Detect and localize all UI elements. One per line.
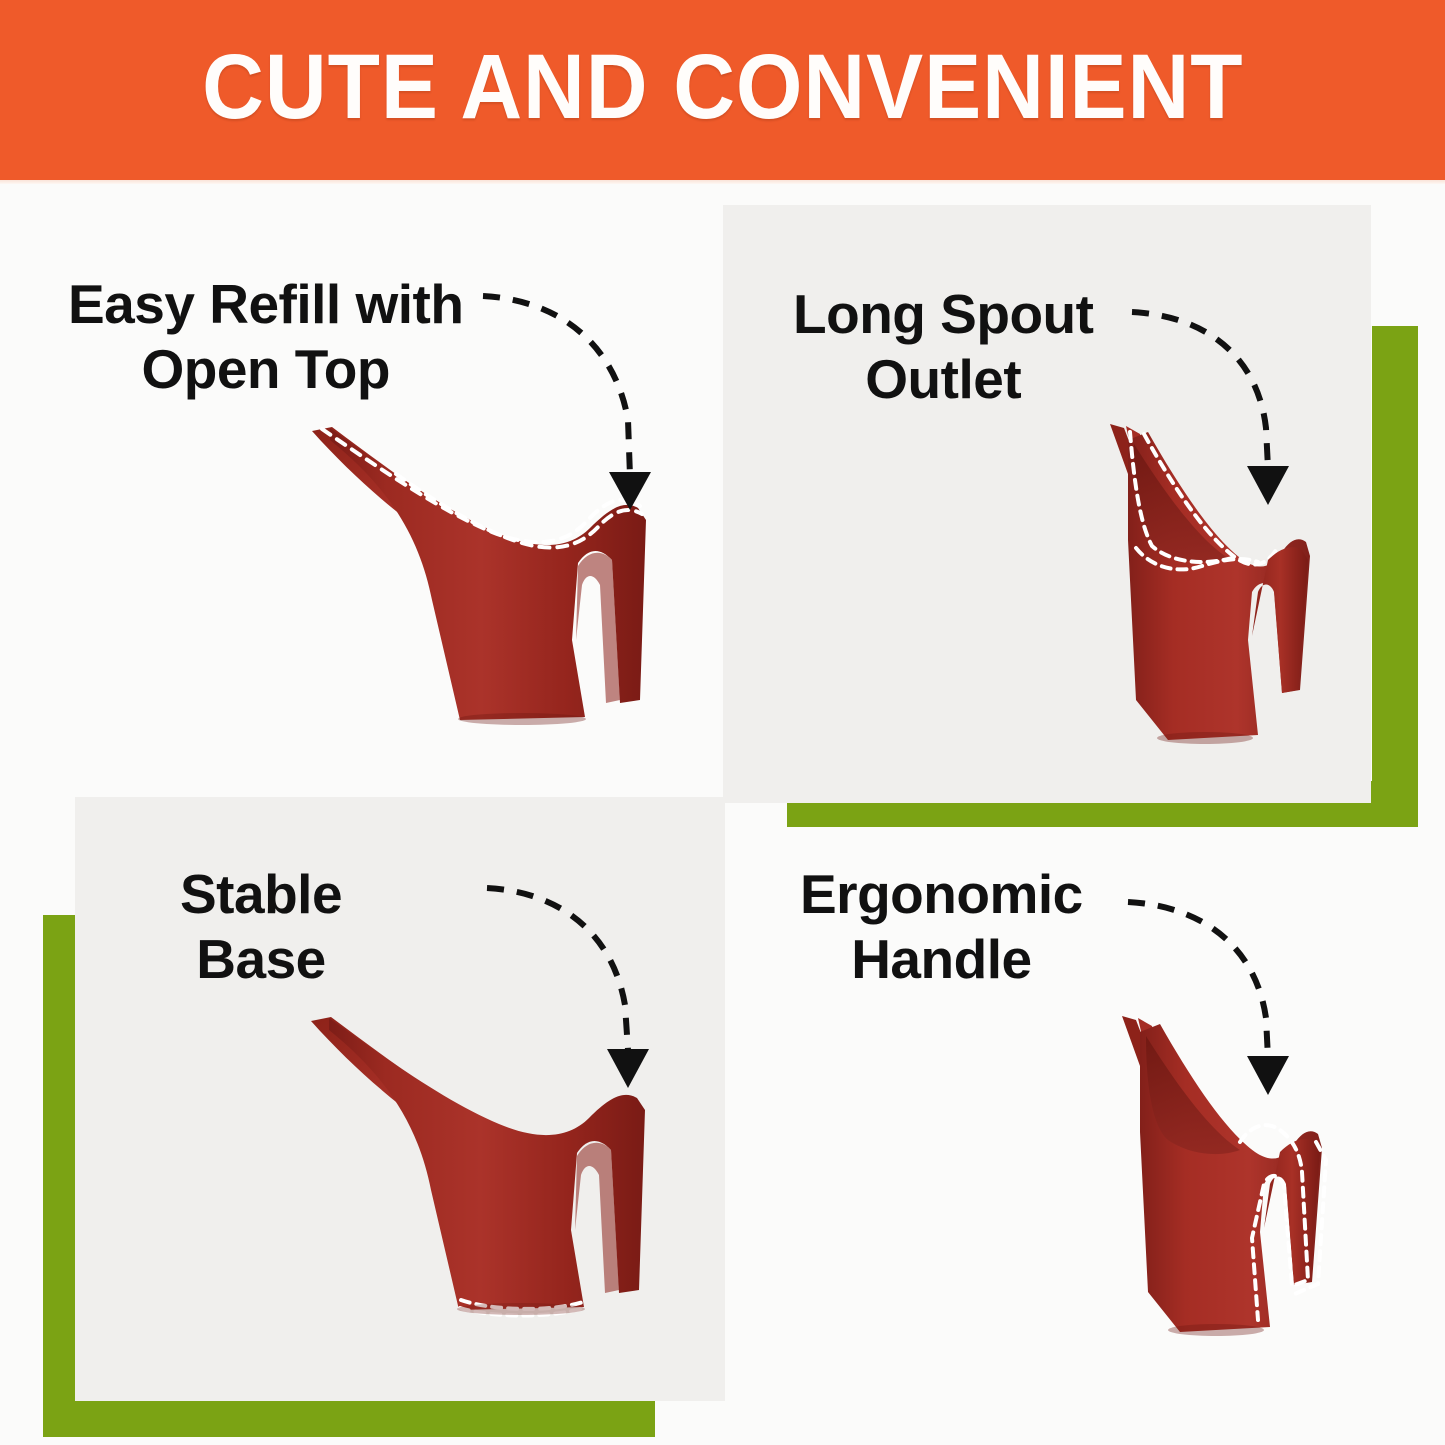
callout-arrow-easy-refill-head [609, 472, 651, 510]
callout-arrow-stable-base [487, 888, 649, 1088]
watering-can-side-view-easy-refill [312, 427, 646, 725]
can-base-shadow-2 [1157, 732, 1253, 744]
can-base-shadow-3 [457, 1303, 585, 1315]
callout-arrow-ergonomic-handle-head [1247, 1056, 1289, 1095]
watering-can-front-view-ergonomic-handle [1122, 1016, 1326, 1336]
watering-can-side-view-stable-base [311, 1017, 645, 1316]
artwork-layer [0, 0, 1445, 1445]
can-base-shadow-4 [1168, 1324, 1264, 1336]
callout-arrow-stable-base-head [607, 1049, 649, 1088]
callout-arrow-easy-refill-path [483, 296, 630, 476]
callout-arrow-long-spout-head [1247, 466, 1289, 505]
infographic-canvas: CUTE AND CONVENIENT Easy Refill with Ope… [0, 0, 1445, 1445]
callout-arrow-easy-refill [483, 296, 651, 510]
can-base-shadow-1 [458, 713, 586, 725]
callout-arrow-stable-base-path [487, 888, 628, 1050]
